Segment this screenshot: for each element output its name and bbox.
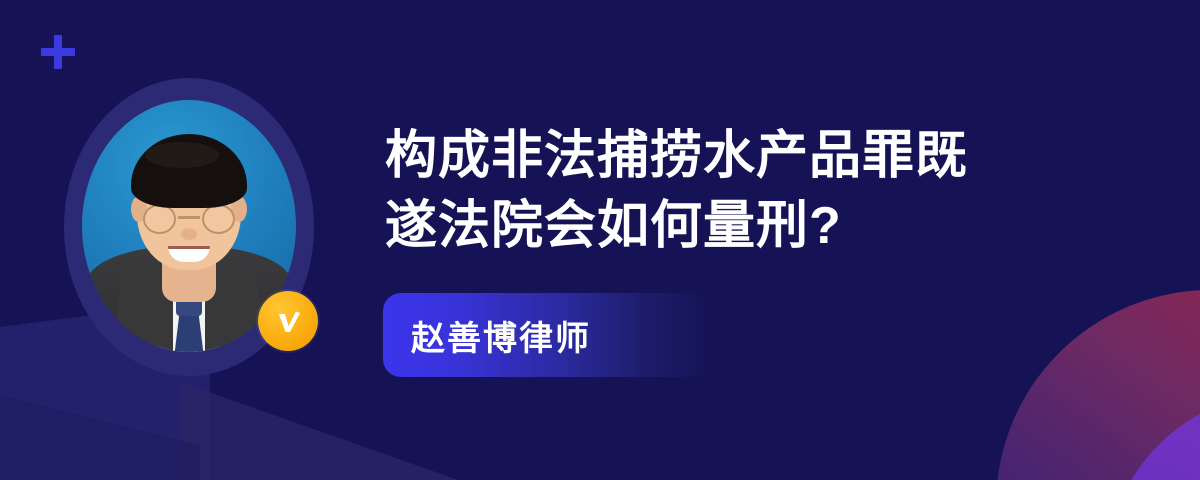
eyeglass-lens-right: [202, 204, 235, 234]
decorative-purple-disc: [1106, 392, 1200, 480]
eyeglass-lens-left: [143, 204, 176, 234]
headline-block: 构成非法捕捞水产品罪既 遂法院会如何量刑?: [385, 122, 1085, 261]
eyeglass-bridge: [178, 216, 200, 219]
decorative-wedge-corner: [0, 395, 200, 480]
lawyer-name-badge[interactable]: 赵善博律师: [383, 293, 713, 377]
portrait-nose: [181, 228, 197, 240]
page-title: 构成非法捕捞水产品罪既 遂法院会如何量刑?: [385, 122, 1085, 261]
decorative-crimson-disc: [996, 290, 1200, 480]
lawyer-name-label: 赵善博律师: [411, 311, 591, 360]
lawyer-qa-banner: 构成非法捕捞水产品罪既 遂法院会如何量刑? 赵善博律师: [0, 0, 1200, 480]
portrait-hair: [131, 134, 247, 208]
verified-check-icon: [258, 291, 318, 351]
plus-icon: [41, 35, 75, 69]
